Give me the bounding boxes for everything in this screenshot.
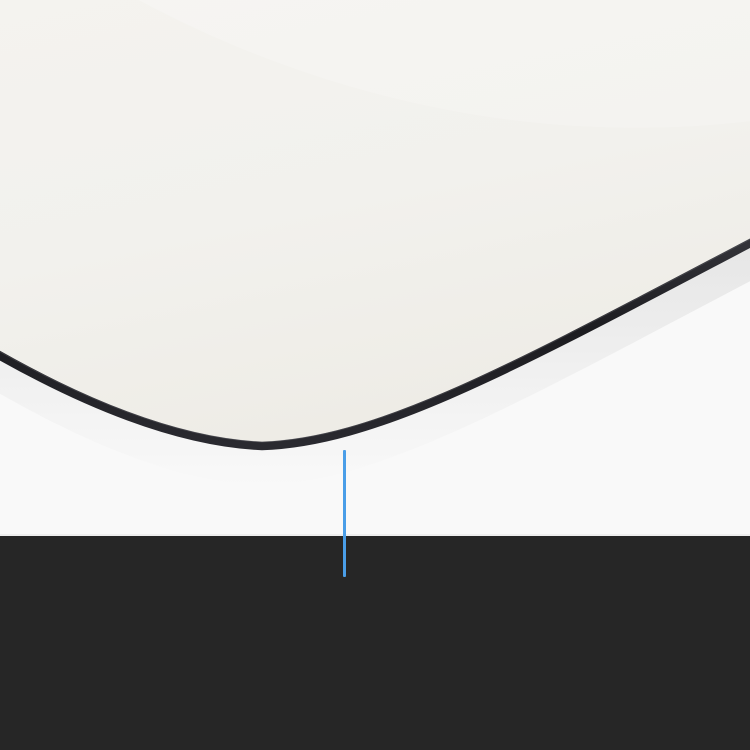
caption-band	[0, 536, 750, 750]
product-illustration	[0, 0, 750, 536]
product-feature-image: Thickened protective edge, spandex elast…	[0, 0, 750, 750]
product-photo-area	[0, 0, 750, 536]
callout-pointer-line	[343, 450, 346, 577]
